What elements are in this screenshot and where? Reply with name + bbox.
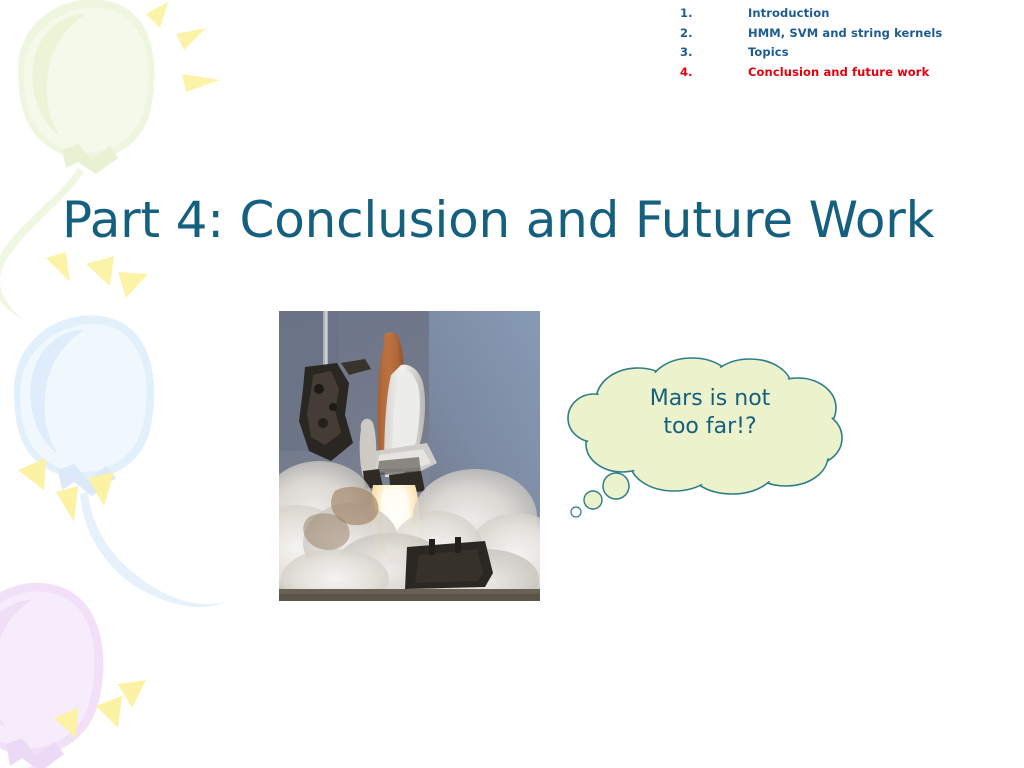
thought-bubble-shape: [568, 358, 842, 517]
agenda-item-2-label: HMM, SVM and string kernels: [748, 24, 1010, 44]
balloon-blue-icon: [14, 315, 230, 607]
balloon-purple-icon: [0, 583, 103, 768]
agenda-outline: 1. Introduction 2. HMM, SVM and string k…: [680, 4, 1010, 82]
agenda-item-4[interactable]: 4. Conclusion and future work: [680, 63, 1010, 83]
agenda-item-1-number: 1.: [680, 4, 748, 24]
agenda-item-3[interactable]: 3. Topics: [680, 43, 1010, 63]
sparkle-rays-blue: [18, 458, 114, 522]
balloon-green-icon: [0, 0, 155, 318]
agenda-item-1-label: Introduction: [748, 4, 1010, 24]
agenda-item-3-number: 3.: [680, 43, 748, 63]
agenda-item-3-label: Topics: [748, 43, 1010, 63]
agenda-item-1[interactable]: 1. Introduction: [680, 4, 1010, 24]
agenda-item-2-number: 2.: [680, 24, 748, 44]
space-shuttle-launch-photo: [279, 311, 540, 601]
agenda-item-2[interactable]: 2. HMM, SVM and string kernels: [680, 24, 1010, 44]
page-title: Part 4: Conclusion and Future Work: [62, 188, 992, 252]
agenda-item-4-label: Conclusion and future work: [748, 63, 1010, 83]
sparkle-rays-green: [46, 2, 220, 298]
thought-bubble: Mars is not too far!?: [560, 352, 860, 522]
agenda-item-4-number: 4.: [680, 63, 748, 83]
sparkle-rays-purple: [54, 680, 146, 738]
presentation-slide: 1. Introduction 2. HMM, SVM and string k…: [0, 0, 1024, 768]
